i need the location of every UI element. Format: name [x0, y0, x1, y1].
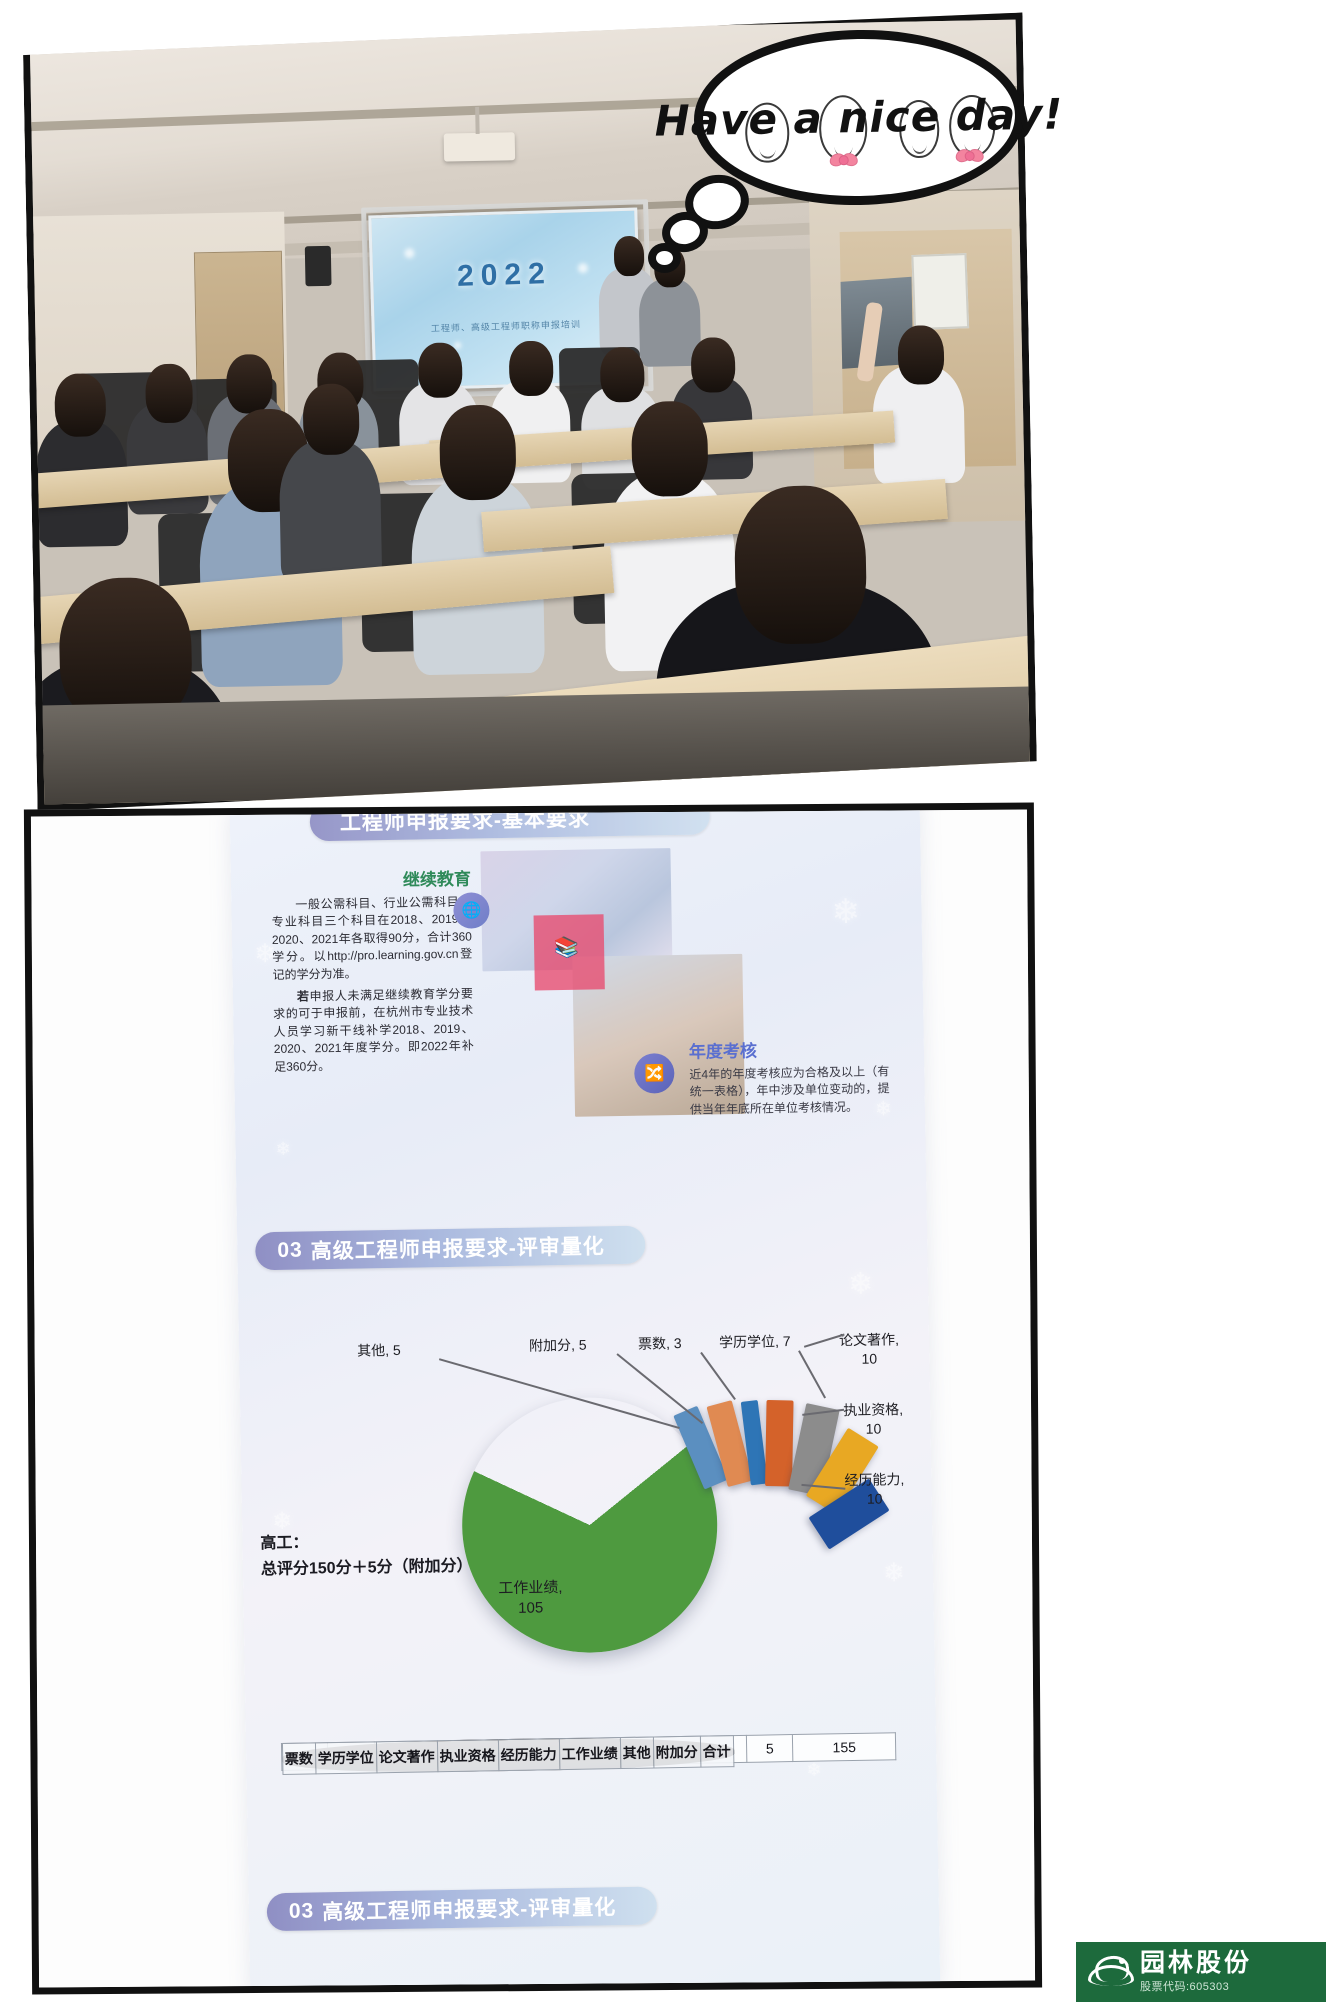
presentation-slide: ❄ ❄ ❄ ❄ ❄ ❄ ❄ ❄ ❄ 工程师申报要求-基本要求 继续教育: [230, 810, 941, 1988]
person-head: [302, 384, 360, 456]
th-lunwen: 论文著作: [376, 1741, 438, 1773]
pie-chart: 其他, 5 附加分, 5 票数, 3 学历学位, 7 论文著作,10: [238, 1272, 936, 1724]
person-head: [145, 363, 193, 423]
table-header-row: 票数 学历学位 论文著作 执业资格 经历能力 工作业绩 其他 附加分 合计: [281, 1735, 733, 1775]
section-header-chart: 03 高级工程师申报要求-评审量化: [255, 1226, 646, 1271]
section-header-basic: 工程师申报要求-基本要求: [310, 810, 711, 842]
person-head: [631, 401, 709, 497]
pie-label-piaoshu: 票数, 3: [638, 1334, 682, 1354]
scrapbook-page: 2022 工程师、高级工程师职称申报培训: [0, 0, 1344, 2016]
th-qita: 其他: [620, 1737, 654, 1769]
garden-leaf-icon: [1086, 1952, 1132, 1992]
whiteboard: [911, 253, 968, 330]
person-head: [439, 404, 517, 500]
annual-review-text: 近4年的年度考核应为合格及以上（有统一表格），年中涉及单位变动的，提供当年年底所…: [689, 1063, 890, 1119]
logo-text-group: 园林股份 股票代码:605303: [1140, 1950, 1252, 1994]
stock-code: 股票代码:605303: [1140, 1978, 1252, 1994]
section-number: 03: [289, 1899, 315, 1923]
td-fujia: 5: [746, 1735, 793, 1763]
pie-label-qita: 其他, 5: [357, 1341, 401, 1361]
person-head: [897, 325, 945, 385]
person-head: [418, 342, 463, 398]
score-table: 票数 学历学位 论文著作 执业资格 经历能力 工作业绩 其他 附加分 合计 3: [281, 1732, 896, 1771]
th-heji: 合计: [700, 1736, 734, 1768]
section-header-next: 03 高级工程师申报要求-评审量化: [267, 1886, 658, 1931]
slide-photo-inner: ❄ ❄ ❄ ❄ ❄ ❄ ❄ ❄ ❄ 工程师申报要求-基本要求 继续教育: [31, 810, 1035, 1988]
summary-text: 高工： 总评分150分＋5分（附加分）: [260, 1528, 472, 1583]
books-icon: 📚: [554, 935, 579, 960]
person-head: [226, 354, 274, 414]
th-fujia: 附加分: [653, 1736, 701, 1768]
brand-name: 园林股份: [1140, 1950, 1252, 1976]
floor: [31, 687, 1038, 812]
pie-label-jingli: 经历能力,10: [844, 1470, 905, 1509]
wall-speaker: [305, 246, 332, 286]
annual-review-title: 年度考核: [689, 1034, 889, 1062]
person-head: [614, 236, 645, 276]
slide-photo: ❄ ❄ ❄ ❄ ❄ ❄ ❄ ❄ ❄ 工程师申报要求-基本要求 继续教育: [24, 802, 1042, 1994]
continuing-education-block: 继续教育 一般公需科目、行业公需科目和专业科目三个科目在2018、2019、20…: [271, 865, 475, 1081]
person-head: [733, 485, 867, 645]
annual-review-block: 年度考核 近4年的年度考核应为合格及以上（有统一表格），年中涉及单位变动的，提供…: [689, 1034, 890, 1119]
pie-label-lunwen: 论文著作,10: [839, 1330, 900, 1369]
person-head: [690, 337, 735, 393]
pie-label-xueli: 学历学位, 7: [719, 1332, 791, 1352]
screen-year: 2022: [373, 254, 636, 296]
section-title: 高级工程师申报要求-评审量化: [322, 1891, 616, 1926]
bubble-tail: [648, 243, 681, 273]
pie-label-gongzuoyeji: 工作业绩,105: [498, 1578, 563, 1620]
leader-line: [701, 1352, 736, 1400]
section-title: 工程师申报要求-基本要求: [340, 810, 590, 837]
pie-slice-xueli: [765, 1400, 793, 1486]
continuing-education-p2: 若申报人未满足继续教育学分要求的可于申报前，在杭州市专业技术人员学习新干线补学2…: [273, 985, 474, 1075]
slide-section-chart: 03 高级工程师申报要求-评审量化: [237, 1217, 938, 1859]
section-number: 03: [277, 1239, 303, 1263]
th-zhiye: 执业资格: [437, 1740, 499, 1772]
slide-section-next: 03 高级工程师申报要求-评审量化: [248, 1854, 940, 1988]
person-head: [599, 347, 644, 403]
continuing-education-title: 继续教育: [271, 865, 471, 893]
th-piaoshu: 票数: [282, 1743, 316, 1775]
th-jingli: 经历能力: [498, 1739, 560, 1771]
section-title: 高级工程师申报要求-评审量化: [310, 1230, 604, 1265]
pie-label-fujiafen: 附加分, 5: [529, 1336, 587, 1356]
continuing-education-p1: 一般公需科目、行业公需科目和专业科目三个科目在2018、2019、2020、20…: [271, 894, 472, 984]
th-yeji: 工作业绩: [559, 1738, 621, 1770]
td-heji: 155: [793, 1733, 896, 1762]
speech-bubble-text: Have a nice day!: [654, 89, 1064, 145]
person: [278, 439, 382, 583]
leader-line: [799, 1350, 826, 1398]
slide-section-basic: 工程师申报要求-基本要求 继续教育 一般公需科目、行业公需科目和专业科目三个科目…: [230, 810, 927, 1231]
company-logo: 园林股份 股票代码:605303: [1076, 1942, 1326, 2002]
summary-line-2: 总评分150分＋5分（附加分）: [261, 1553, 473, 1582]
person-head: [508, 340, 553, 396]
pie-label-zhiye: 执业资格,10: [843, 1400, 904, 1439]
th-xueli: 学历学位: [315, 1742, 377, 1774]
p2-lead: 若: [297, 989, 310, 1003]
ceiling-projector: [444, 132, 515, 162]
person-head: [54, 373, 106, 437]
summary-line-1: 高工：: [260, 1528, 472, 1557]
